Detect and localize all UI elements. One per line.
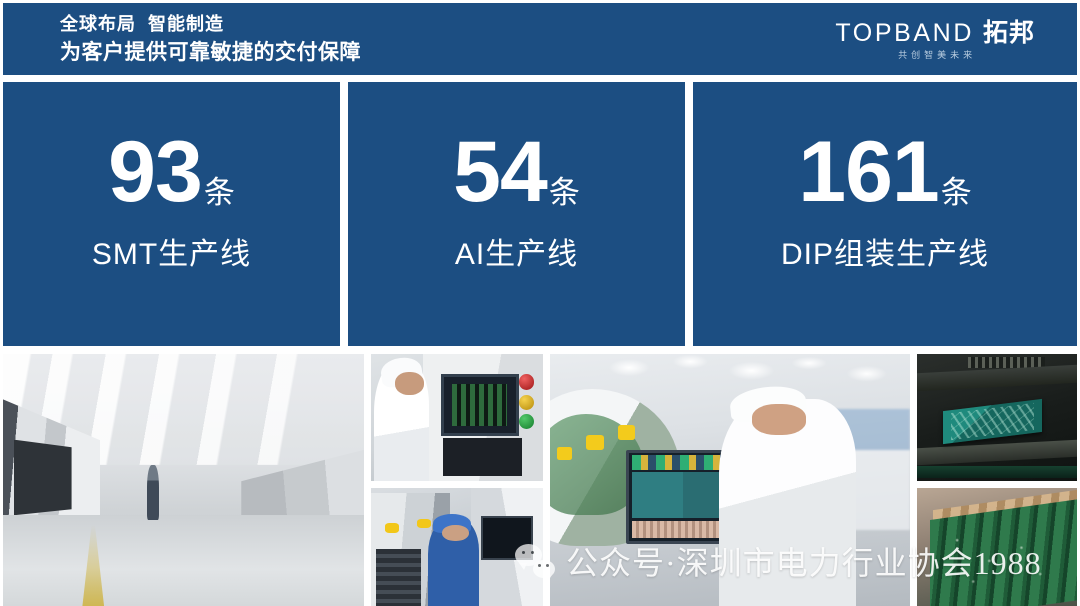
- photo-layer-worker-head: [752, 404, 806, 434]
- stat-value: 93: [108, 133, 202, 212]
- stat-label: AI生产线: [455, 229, 578, 273]
- photo-strip: [3, 354, 1077, 606]
- photo-layer-screen: [481, 516, 533, 560]
- stat-unit: 条: [549, 177, 580, 208]
- logo-tagline: 共创智美未来: [835, 50, 1035, 61]
- stat-unit: 条: [204, 177, 235, 208]
- stat-label: DIP组装生产线: [781, 229, 989, 273]
- stat-label: SMT生产线: [92, 229, 251, 273]
- slide-header: 全球布局 智能制造 为客户提供可靠敏捷的交付保障 TOPBAND 拓邦 共创智美…: [3, 3, 1077, 75]
- stat-number-row: 54 条: [453, 133, 580, 212]
- photo-pcb-rack-array: [917, 488, 1077, 606]
- photo-layer-monitor-canvas: [632, 472, 730, 518]
- photo-operator-blue-gown-machine: [371, 488, 543, 606]
- photo-layer-yellow-clamp-1: [586, 435, 604, 450]
- page-title-line-1: 全球布局 智能制造: [60, 11, 361, 38]
- photo-layer-machine-lower-panel: [443, 438, 522, 476]
- photo-column-1: [3, 354, 364, 606]
- photo-column-2: [371, 354, 543, 606]
- stat-card-ai: 54 条 AI生产线: [348, 82, 685, 346]
- photo-layer-component-speckle: [933, 512, 1067, 606]
- photo-layer-emergency-stop-button: [519, 374, 534, 389]
- photo-operator-wave-solder-console: [550, 354, 910, 606]
- page-title-line-2: 为客户提供可靠敏捷的交付保障: [60, 38, 361, 67]
- slide-root: 全球布局 智能制造 为客户提供可靠敏捷的交付保障 TOPBAND 拓邦 共创智美…: [0, 0, 1080, 606]
- logo-latin-text: TOPBAND: [835, 19, 974, 47]
- photo-layer-yellow-clamp-3: [557, 447, 571, 460]
- stat-number-row: 93 条: [108, 133, 235, 212]
- stat-value: 161: [798, 133, 939, 212]
- photo-layer-worker-head: [442, 525, 470, 542]
- stat-value: 54: [453, 133, 547, 212]
- stat-unit: 条: [941, 177, 972, 208]
- photo-layer-person: [147, 465, 159, 520]
- photo-layer-monitor-toolbar: [632, 455, 730, 469]
- photo-smt-cleanroom-corridor: [3, 354, 364, 606]
- photo-layer-yellow-reel-1: [385, 523, 399, 532]
- photo-layer-screen: [441, 374, 519, 436]
- photo-operator-aoi-inspection: [371, 354, 543, 481]
- stat-card-smt: 93 条 SMT生产线: [3, 82, 340, 346]
- topband-logo: TOPBAND 拓邦 共创智美未来: [835, 19, 1035, 61]
- stat-card-dip: 161 条 DIP组装生产线: [693, 82, 1077, 346]
- header-title-group: 全球布局 智能制造 为客户提供可靠敏捷的交付保障: [60, 11, 361, 67]
- stats-row: 93 条 SMT生产线 54 条 AI生产线 161 条 DIP组装生产线: [3, 82, 1077, 346]
- photo-layer-conveyor-base: [917, 466, 1077, 479]
- photo-layer-floor: [3, 515, 364, 606]
- photo-pcb-on-conveyor: [917, 354, 1077, 481]
- photo-layer-component-rack: [376, 549, 421, 606]
- photo-column-4: [917, 354, 1077, 606]
- stat-number-row: 161 条: [798, 133, 972, 212]
- photo-layer-left-machine-panel: [14, 440, 72, 516]
- photo-layer-monitor-statusbar: [632, 521, 730, 539]
- photo-layer-pcb-traces: [951, 403, 1034, 440]
- photo-layer-screen-content: [452, 384, 507, 426]
- photo-layer-yellow-clamp-2: [618, 425, 634, 440]
- logo-wordmark-row: TOPBAND 拓邦: [835, 19, 1035, 47]
- photo-column-3: [550, 354, 910, 606]
- logo-cjk-text: 拓邦: [983, 19, 1035, 47]
- photo-layer-yellow-reel-2: [417, 519, 431, 528]
- photo-layer-worker-head: [395, 372, 424, 395]
